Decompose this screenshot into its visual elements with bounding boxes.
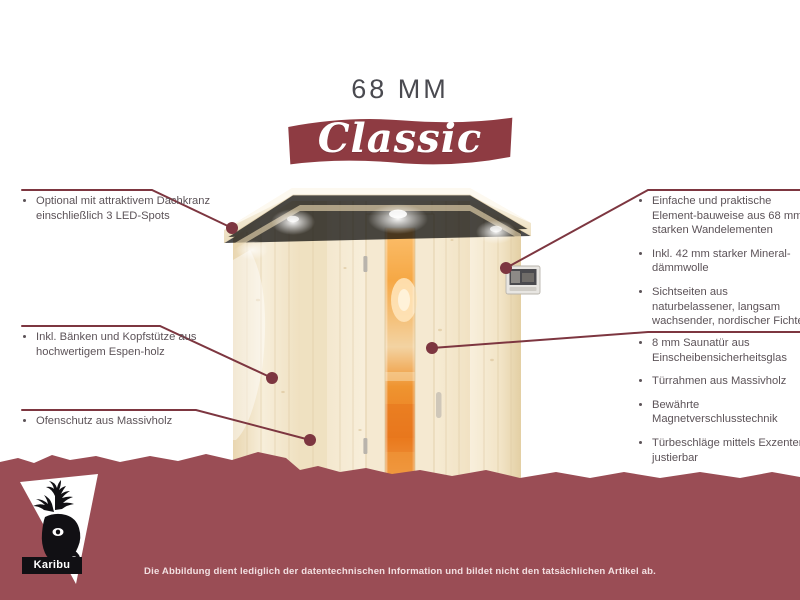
callout-list: Inkl. Bänken und Kopfstütze aus hochwert…	[22, 330, 212, 359]
model-badge-label: Classic	[318, 116, 483, 162]
callout-item: Türbeschläge mittels Exzenter justierbar	[638, 436, 800, 465]
bullet-icon	[639, 441, 642, 444]
callout-stove-guard: Ofenschutz aus Massivholz	[22, 414, 222, 429]
callout-item: Einfache und praktische Element-bauweise…	[638, 194, 800, 238]
bullet-icon	[639, 379, 642, 382]
bullet-icon	[639, 199, 642, 202]
callout-list: Einfache und praktische Element-bauweise…	[638, 194, 800, 329]
callout-list: Optional mit attraktivem Dachkranz einsc…	[22, 194, 212, 223]
bullet-icon	[23, 419, 26, 422]
callout-list: 8 mm Saunatür aus Einscheibensicherheits…	[638, 336, 800, 465]
callout-item: Türrahmen aus Massivholz	[638, 374, 800, 389]
model-badge: Classic	[284, 112, 517, 170]
callout-item: Inkl. Bänken und Kopfstütze aus hochwert…	[22, 330, 212, 359]
footer-disclaimer: Die Abbildung dient lediglich der datent…	[0, 566, 800, 577]
callout-list: Ofenschutz aus Massivholz	[22, 414, 222, 429]
bullet-icon	[639, 252, 642, 255]
bullet-icon	[23, 335, 26, 338]
callout-benches: Inkl. Bänken und Kopfstütze aus hochwert…	[22, 330, 212, 359]
callout-roof-crown: Optional mit attraktivem Dachkranz einsc…	[22, 194, 212, 223]
callout-item: Ofenschutz aus Massivholz	[22, 414, 222, 429]
bullet-icon	[23, 199, 26, 202]
bullet-icon	[639, 403, 642, 406]
callout-item: Inkl. 42 mm starker Mineral-dämmwolle	[638, 247, 800, 276]
callout-item: Optional mit attraktivem Dachkranz einsc…	[22, 194, 212, 223]
callout-item: Sichtseiten aus naturbelassener, langsam…	[638, 285, 800, 329]
infographic-canvas: Karibu 68 MM	[0, 0, 800, 600]
bullet-icon	[639, 341, 642, 344]
callout-text-layer: Optional mit attraktivem Dachkranz einsc…	[0, 0, 800, 600]
callout-item: 8 mm Saunatür aus Einscheibensicherheits…	[638, 336, 800, 365]
bullet-icon	[639, 290, 642, 293]
callout-door: 8 mm Saunatür aus Einscheibensicherheits…	[638, 336, 800, 465]
callout-construction: Einfache und praktische Element-bauweise…	[638, 194, 800, 329]
callout-item: Bewährte Magnetverschlusstechnik	[638, 398, 800, 427]
